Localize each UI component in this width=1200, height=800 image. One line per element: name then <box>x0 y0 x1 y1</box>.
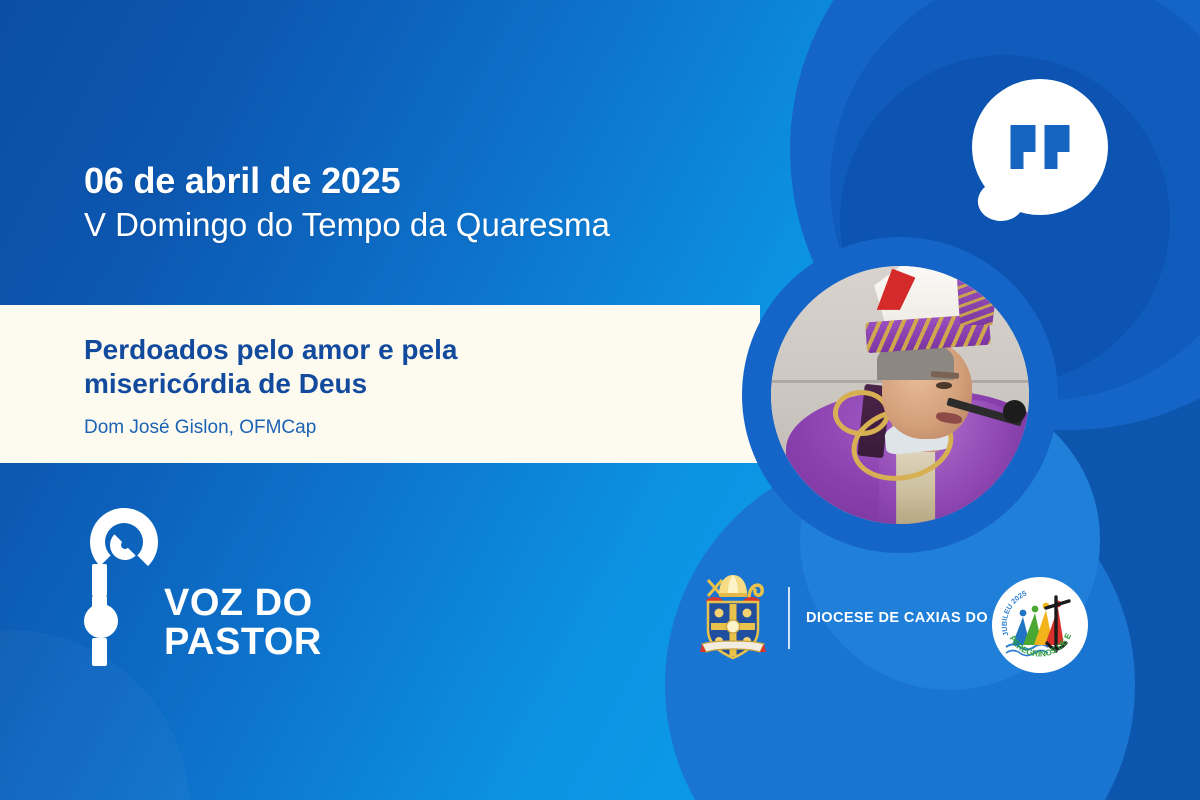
quote-marks-icon <box>1011 125 1070 169</box>
publication-date: 06 de abril de 2025 <box>84 160 610 202</box>
logo-line-1: VOZ DO <box>164 584 322 623</box>
bishop-portrait-photo: Dom José Gislon em vestes roxas com mitr… <box>771 266 1029 524</box>
headline-block: 06 de abril de 2025 V Domingo do Tempo d… <box>84 160 610 247</box>
microphone-ball <box>84 604 118 638</box>
diocese-name: DIOCESE DE CAXIAS DO SUL <box>806 610 1023 626</box>
voz-do-pastor-wordmark: VOZ DO PASTOR <box>164 584 322 662</box>
portrait-mitre-side-panel <box>957 266 998 325</box>
crosier-hook-inner <box>110 530 140 560</box>
logo-line-2: PASTOR <box>164 623 322 662</box>
crosier-microphone-icon <box>84 508 158 668</box>
message-title-line-1: Perdoados pelo amor e pela <box>84 334 457 365</box>
diocese-lockup: DIOCESE DE CAXIAS DO SUL <box>694 572 1023 664</box>
quote-mark-left <box>1011 125 1036 169</box>
portrait-eye <box>936 382 951 388</box>
quote-bubble-icon <box>972 79 1108 215</box>
liturgical-season: V Domingo do Tempo da Quaresma <box>84 204 610 247</box>
message-title: Perdoados pelo amor e pela misericórdia … <box>84 333 604 401</box>
jubilee-2025-seal-icon: JUBILEU 2025 PEREGRINOS DE ESPERANÇA JUB… <box>992 577 1088 673</box>
message-author: Dom José Gislon, OFMCap <box>84 417 760 439</box>
diocese-coat-of-arms-icon <box>694 572 772 664</box>
voz-do-pastor-logo: VOZ DO PASTOR <box>84 508 322 668</box>
title-banner: Perdoados pelo amor e pela misericórdia … <box>0 305 760 463</box>
microphone-foot <box>92 638 107 666</box>
message-title-line-2: misericórdia de Deus <box>84 368 367 399</box>
crosier-staff <box>92 564 107 596</box>
lockup-divider <box>788 587 790 649</box>
portrait-ring: Dom José Gislon em vestes roxas com mitr… <box>742 237 1058 553</box>
quote-mark-right <box>1045 125 1070 169</box>
poster-canvas: 06 de abril de 2025 V Domingo do Tempo d… <box>0 0 1200 800</box>
